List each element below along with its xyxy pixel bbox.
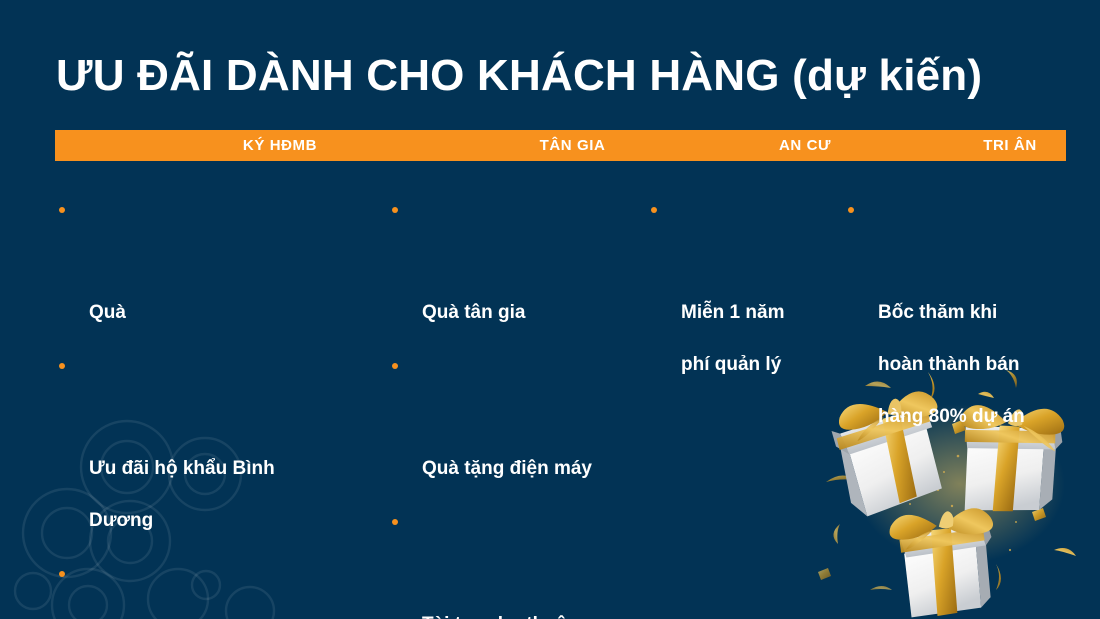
bullet-dot-icon [392,207,398,213]
column-an-cu: Miễn 1 năm phí quản lý [647,183,843,391]
bullet-dot-icon [59,363,65,369]
slide-canvas: ƯU ĐÃI DÀNH CHO KHÁCH HÀNG (dự kiến) KÝ … [0,0,1100,619]
list-item-label: Ưu đãi hộ khẩu Bình Dương [89,458,275,531]
list-item-label: Quà tặng điện máy [422,458,592,479]
list-item: Ưu đãi khách hàng cũ [55,547,385,619]
list-item-label: Bốc thăm khi hoàn thành bán hàng 80% dự … [878,302,1025,427]
list-item: Tài trợ cho thuê (Không áp dụng cho KH v… [388,495,646,619]
list-item-label: Miễn 1 năm phí quản lý [681,302,784,375]
list-item-label: Quà [89,302,126,323]
column-tan-gia: Quà tân gia Quà tặng điện máy Tài trợ ch… [388,183,646,619]
list-item: Quà tân gia [388,183,646,339]
list-item: Bốc thăm khi hoàn thành bán hàng 80% dự … [844,183,1069,443]
list-item: Ưu đãi hộ khẩu Bình Dương [55,339,385,547]
bullet-dot-icon [59,207,65,213]
list-item-label: Quà tân gia [422,302,525,323]
bullet-dot-icon [59,571,65,577]
list-item-label: Tài trợ cho thuê (Không áp dụng cho KH v… [422,614,607,619]
page-title: ƯU ĐÃI DÀNH CHO KHÁCH HÀNG (dự kiến) [56,53,982,99]
list-item: Quà [55,183,385,339]
column-header-bar: KÝ HĐMB TÂN GIA AN CƯ TRI ÂN [55,130,1066,161]
column-header-an-cu: AN CƯ [735,130,875,161]
bullet-dot-icon [651,207,657,213]
list-item: Miễn 1 năm phí quản lý [647,183,843,391]
column-header-tri-an: TRI ÂN [935,130,1085,161]
column-tri-an: Bốc thăm khi hoàn thành bán hàng 80% dự … [844,183,1069,443]
bullet-dot-icon [392,519,398,525]
column-header-tan-gia: TÂN GIA [480,130,665,161]
column-header-ky-hdmb: KÝ HĐMB [175,130,385,161]
bullet-dot-icon [848,207,854,213]
column-ky-hdmb: Quà Ưu đãi hộ khẩu Bình Dương Ưu đãi khá… [55,183,385,619]
list-item: Quà tặng điện máy [388,339,646,495]
bullet-dot-icon [392,363,398,369]
